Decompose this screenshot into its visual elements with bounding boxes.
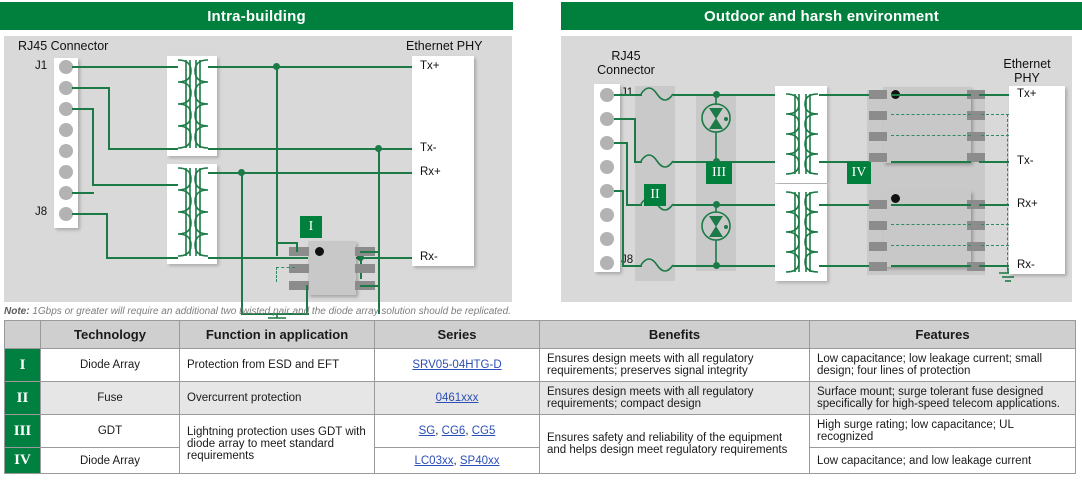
wire [360,285,380,287]
row-features: Low capacitance; and low leakage current [810,448,1076,474]
wire [72,87,110,89]
table-header-row: Technology Function in application Serie… [5,321,1076,349]
dashed-wire [891,245,971,246]
wire [72,66,178,68]
row-series: 0461xxx [375,382,540,415]
row-numeral: IV [5,448,41,474]
ic-pin [869,132,887,141]
phy-pin-tx-plus: Tx+ [420,60,440,72]
wire [891,265,971,267]
wire [72,192,94,194]
wire [108,87,110,149]
rj45-pin [600,88,614,102]
pin-label-j8: J8 [35,206,47,219]
row-features: High surge rating; low capacitance; UL r… [810,415,1076,448]
rj45-pin [600,184,614,198]
dashed-bus [981,245,1009,246]
series-link[interactable]: 0461xxx [436,392,479,404]
wire [891,161,971,163]
col-header-benefits: Benefits [540,321,810,349]
row-series: SG, CG6, CG5 [375,415,540,448]
rj45-pin [59,186,73,200]
wire [92,108,94,186]
row-technology: Diode Array [41,349,180,382]
phy-pin-rx-minus: Rx- [1017,259,1035,271]
dashed-bus [981,224,1009,225]
row-technology: GDT [41,415,180,448]
dashed-bus-vertical [1007,114,1008,270]
wire [106,213,108,258]
wire [634,118,636,162]
ic-pin [869,153,887,162]
wire [241,172,243,314]
row-series: LC03xx, SP40xx [375,448,540,474]
dashed-bus [981,135,1009,136]
row-features: Surface mount; surge tolerant fuse desig… [810,382,1076,415]
ethernet-phy-body: Tx+ Tx- Rx+ Rx- [1009,86,1065,274]
ic-pin [869,90,887,99]
panel-header-intra-building: Intra-building [0,2,513,30]
badge-II: II [644,184,666,206]
rj45-pin [59,144,73,158]
phy-pin-rx-plus: Rx+ [420,166,441,178]
phy-pin-tx-plus: Tx+ [1017,88,1037,100]
wire [72,213,108,215]
ic-pin [869,242,887,251]
wire [819,204,871,206]
phy-pin-tx-minus: Tx- [1017,155,1034,167]
rj45-pin [59,165,73,179]
dashed-bus [981,114,1009,115]
rj45-pin [600,112,614,126]
transformer-coils [156,52,230,268]
note-prefix: Note: [4,306,30,317]
note-text: Note: 1Gbps or greater will require an a… [4,306,511,317]
wire [276,242,298,244]
rj45-pin [59,207,73,221]
row-function: Lightning protection uses GDT with diode… [180,415,375,474]
dashed-wire [276,267,295,282]
page-root: Intra-building RJ45 Connector Ethernet P… [0,0,1082,495]
row-numeral: I [5,349,41,382]
series-link[interactable]: SP40xx [460,455,500,467]
ethernet-phy-label-line1: Ethernet [991,58,1063,71]
col-header-technology: Technology [41,321,180,349]
badge-III: III [706,162,732,184]
junction-dot [713,91,720,98]
ic-pin [967,132,985,141]
series-link[interactable]: CG5 [472,425,496,437]
wire [360,251,380,253]
wire [378,148,380,314]
phy-pin-rx-minus: Rx- [420,251,438,263]
ic-pin [355,264,375,273]
col-header-series: Series [375,321,540,349]
phy-pin-rx-plus: Rx+ [1017,198,1038,210]
wire [819,265,871,267]
wire [891,94,971,96]
transformer-coils [764,84,840,284]
wire [891,204,971,206]
junction-dot [238,169,245,176]
row-benefits: Ensures design meets with all regulatory… [540,382,810,415]
col-header-function: Function in application [180,321,375,349]
ic-pin [869,262,887,271]
row-benefits: Ensures safety and reliability of the eq… [540,415,810,474]
junction-dot [273,63,280,70]
row-series: SRV05-04HTG-D [375,349,540,382]
fuse-symbols [639,82,681,282]
rj45-pin [600,208,614,222]
ic-pin [967,221,985,230]
wire [614,94,642,96]
dashed-wire [891,114,971,115]
badge-IV: IV [847,162,871,184]
rj45-pin [600,256,614,270]
wire [92,184,178,186]
phy-pin-tx-minus: Tx- [420,142,437,154]
ethernet-phy-label: Ethernet PHY [406,40,482,53]
col-header-features: Features [810,321,1076,349]
table-row: III GDT Lightning protection uses GDT wi… [5,415,1076,448]
ethernet-phy-body: Tx+ Tx- Rx+ Rx- [412,56,474,266]
dashed-wire [891,224,971,225]
ic-pin [869,221,887,230]
diagram-intra-building: RJ45 Connector Ethernet PHY J1 J8 [4,36,512,302]
junction-dot [713,262,720,269]
junction-dot [713,201,720,208]
junction-dot [375,145,382,152]
wire [622,190,624,266]
row-function: Protection from ESD and EFT [180,349,375,382]
series-link[interactable]: LC03xx [414,455,453,467]
wire [819,94,871,96]
row-technology: Diode Array [41,448,180,474]
row-technology: Fuse [41,382,180,415]
dashed-wire [891,135,971,136]
note-body: 1Gbps or greater will require an additio… [30,306,511,317]
table-row: II Fuse Overcurrent protection 0461xxx E… [5,382,1076,415]
ic-pin [869,200,887,209]
wire [208,66,412,68]
series-link[interactable]: SG [419,425,436,437]
wire [296,242,298,252]
row-features: Low capacitance; low leakage current; sm… [810,349,1076,382]
rj45-pin [600,136,614,150]
rj45-pin [59,102,73,116]
rj45-pin [600,232,614,246]
row-benefits: Ensures design meets with all regulatory… [540,349,810,382]
rj45-connector-label-line2: Connector [583,64,669,77]
ethernet-phy-label-line2: PHY [991,72,1063,85]
rj45-pin [59,60,73,74]
series-link[interactable]: SRV05-04HTG-D [412,359,501,371]
ic-pin [967,242,985,251]
series-link[interactable]: CG6 [442,425,466,437]
rj45-connector-label-line1: RJ45 [583,50,669,63]
protection-technology-table: Technology Function in application Serie… [4,320,1076,474]
pin-label-j1: J1 [35,60,47,73]
ic-pin [289,247,309,256]
wire [614,118,636,120]
ic-pin [967,111,985,120]
diagram-outdoor: RJ45 Connector Ethernet PHY J1 J8 [561,36,1072,302]
rj45-pin [59,81,73,95]
panel-header-outdoor: Outdoor and harsh environment [561,2,1082,30]
rj45-pin [600,160,614,174]
row-function: Overcurrent protection [180,382,375,415]
wire [276,66,278,256]
wire [626,142,628,205]
wire [106,257,178,259]
rj45-connector-label: RJ45 Connector [18,40,108,53]
wire [72,108,94,110]
col-header-numeral [5,321,41,349]
table-row: I Diode Array Protection from ESD and EF… [5,349,1076,382]
ic-polarity-dot [315,247,324,256]
ic-polarity-dot [891,194,900,203]
badge-I: I [300,216,322,238]
ic-pin [869,111,887,120]
row-numeral: II [5,382,41,415]
rj45-pin [59,123,73,137]
row-numeral: III [5,415,41,448]
wire [108,148,178,150]
